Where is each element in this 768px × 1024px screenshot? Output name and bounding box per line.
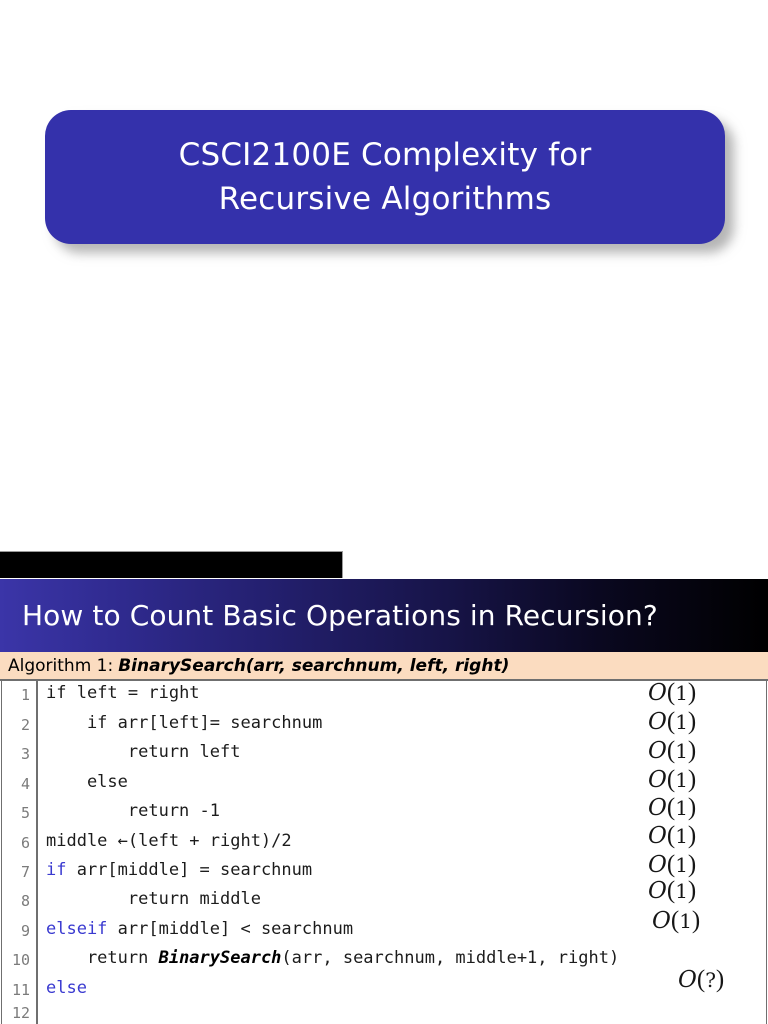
- algorithm-caption-bar: Algorithm 1: BinarySearch(arr, searchnum…: [0, 652, 768, 679]
- algorithm-caption-prefix: Algorithm 1:: [8, 656, 113, 676]
- title-banner: CSCI2100E Complexity for Recursive Algor…: [45, 110, 725, 244]
- complexity-annotation: O(1): [648, 737, 696, 765]
- code-line-text: return -1: [46, 801, 220, 821]
- code-line-number: 5: [0, 804, 30, 822]
- complexity-annotation: O(1): [648, 877, 696, 905]
- code-line-number: 8: [0, 892, 30, 910]
- code-line-number: 12: [0, 1004, 30, 1022]
- code-line-number: 10: [0, 951, 30, 969]
- section-header-title: How to Count Basic Operations in Recursi…: [0, 599, 658, 632]
- title-slide: CSCI2100E Complexity for Recursive Algor…: [0, 0, 768, 551]
- black-accent-bar: [0, 551, 343, 578]
- code-line-text: if left = right: [46, 683, 200, 703]
- code-line-text: middle ←(left + right)/2: [46, 831, 292, 851]
- complexity-annotation: O(1): [648, 766, 696, 794]
- complexity-annotation: O(1): [648, 794, 696, 822]
- complexity-annotation: O(1): [648, 679, 696, 707]
- complexity-annotation: O(1): [648, 822, 696, 850]
- algorithm-code-listing: 1if left = rightO(1)2 if arr[left]= sear…: [0, 679, 768, 1024]
- code-line-number: 9: [0, 922, 30, 940]
- content-slide: How to Count Basic Operations in Recursi…: [0, 551, 768, 1024]
- code-line-text: return left: [46, 742, 240, 762]
- code-line-text: return middle: [46, 889, 261, 909]
- algorithm-signature: BinarySearch(arr, searchnum, left, right…: [118, 656, 509, 676]
- code-line-number: 3: [0, 745, 30, 763]
- code-line-number: 7: [0, 863, 30, 881]
- complexity-annotation: O(1): [652, 907, 700, 935]
- section-header-band: How to Count Basic Operations in Recursi…: [0, 579, 768, 652]
- code-line-text: else: [46, 978, 87, 998]
- page-title: CSCI2100E Complexity for Recursive Algor…: [155, 133, 616, 221]
- code-line-number: 11: [0, 981, 30, 999]
- code-line-text: if arr[middle] = searchnum: [46, 860, 312, 880]
- complexity-annotation: O(1): [648, 708, 696, 736]
- code-line-text: return BinarySearch(arr, searchnum, midd…: [46, 948, 619, 968]
- code-line-text: if arr[left]= searchnum: [46, 713, 322, 733]
- code-line-number: 4: [0, 775, 30, 793]
- code-line-row: 12: [0, 999, 768, 1024]
- code-line-text: else: [46, 772, 128, 792]
- complexity-annotation: O(?): [678, 966, 724, 994]
- code-line-number: 2: [0, 716, 30, 734]
- code-line-number: 6: [0, 834, 30, 852]
- complexity-annotation: O(1): [648, 851, 696, 879]
- code-line-text: elseif arr[middle] < searchnum: [46, 919, 353, 939]
- code-line-number: 1: [0, 686, 30, 704]
- code-line-row: 10 return BinarySearch(arr, searchnum, m…: [0, 946, 768, 976]
